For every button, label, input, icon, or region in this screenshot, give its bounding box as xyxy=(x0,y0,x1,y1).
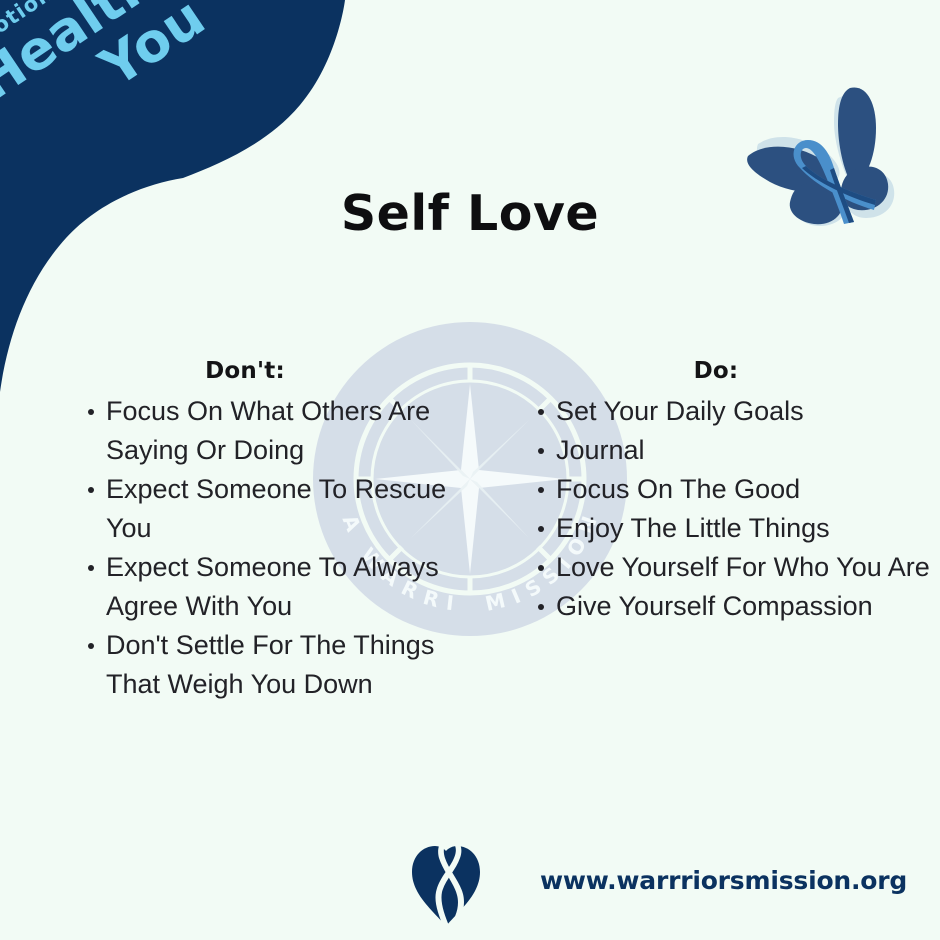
list-item: Focus On What Others Are Saying Or Doing xyxy=(78,392,470,470)
do-list: Set Your Daily Goals Journal Focus On Th… xyxy=(528,392,940,626)
column-dont-heading: Don't: xyxy=(78,358,470,384)
tagline-healthy: Healthy xyxy=(0,0,196,113)
footer: www.warrriorsmission.org xyxy=(0,832,940,932)
tagline-you: You xyxy=(89,0,216,99)
heart-ribbon-icon xyxy=(406,836,486,928)
tagline-emotionally: Emotionally xyxy=(0,0,96,60)
list-item: Give Yourself Compassion xyxy=(528,587,940,626)
list-item: Enjoy The Little Things xyxy=(528,509,940,548)
website-url[interactable]: www.warrriorsmission.org xyxy=(540,866,920,895)
column-dont: Don't: Focus On What Others Are Saying O… xyxy=(0,358,470,704)
dont-list: Focus On What Others Are Saying Or Doing… xyxy=(78,392,470,704)
column-do: Do: Set Your Daily Goals Journal Focus O… xyxy=(470,358,940,704)
list-item: Love Yourself For Who You Are xyxy=(528,548,940,587)
list-item: Expect Someone To Always Agree With You xyxy=(78,548,470,626)
poster-canvas: Emotionally Healthy You Self Love xyxy=(0,0,940,940)
butterfly-icon xyxy=(742,82,902,232)
list-item: Journal xyxy=(528,431,940,470)
list-item: Focus On The Good xyxy=(528,470,940,509)
column-do-heading: Do: xyxy=(528,358,940,384)
list-item: Set Your Daily Goals xyxy=(528,392,940,431)
list-item: Don't Settle For The Things That Weigh Y… xyxy=(78,626,470,704)
advice-columns: Don't: Focus On What Others Are Saying O… xyxy=(0,358,940,704)
list-item: Expect Someone To Rescue You xyxy=(78,470,470,548)
